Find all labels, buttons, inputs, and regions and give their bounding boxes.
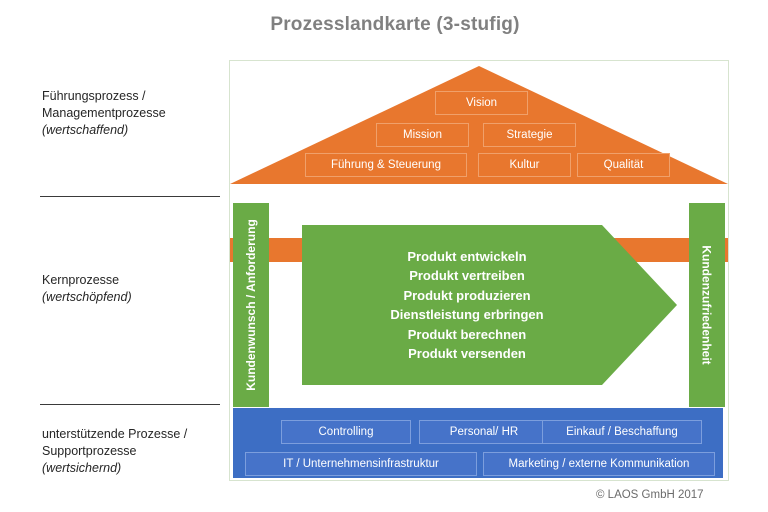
legend-core-line1: Kernprozesse xyxy=(42,272,227,289)
page-title: Prozesslandkarte (3-stufig) xyxy=(230,14,560,36)
legend-support-processes: unterstützende Prozesse / Supportprozess… xyxy=(42,426,227,477)
support-process-zone: Controlling Personal/ HR Einkauf / Besch… xyxy=(233,408,723,478)
support-box-it-infrastruktur: IT / Unternehmensinfrastruktur xyxy=(245,452,477,476)
legend-support-line2: Supportprozesse xyxy=(42,443,227,460)
support-box-einkauf-beschaffung-label: Einkauf / Beschaffung xyxy=(566,426,678,438)
management-box-mission-label: Mission xyxy=(403,129,442,141)
support-box-personal-hr-label: Personal/ HR xyxy=(450,426,518,438)
management-box-strategie-label: Strategie xyxy=(506,129,552,141)
process-map-diagram: Prozesslandkarte (3-stufig) Führungsproz… xyxy=(0,0,768,512)
legend-management-line1: Führungsprozess / xyxy=(42,88,227,105)
core-process-zone: Kundenwunsch / Anforderung Kundenzufried… xyxy=(230,203,728,407)
management-box-kultur-label: Kultur xyxy=(509,159,539,171)
legend-management-processes: Führungsprozess / Managementprozesse (we… xyxy=(42,88,227,139)
legend-management-line3: (wertschaffend) xyxy=(42,122,227,139)
management-box-mission: Mission xyxy=(376,123,469,147)
core-process-arrow-shape xyxy=(302,225,677,385)
management-box-strategie: Strategie xyxy=(483,123,576,147)
legend-management-line2: Managementprozesse xyxy=(42,105,227,122)
support-box-einkauf-beschaffung: Einkauf / Beschaffung xyxy=(542,420,702,444)
support-box-personal-hr: Personal/ HR xyxy=(419,420,549,444)
management-box-qualitaet-label: Qualität xyxy=(604,159,644,171)
support-box-controlling-label: Controlling xyxy=(319,426,374,438)
customer-satisfaction-bar: Kundenzufriedenheit xyxy=(689,203,725,407)
legend-divider-lower xyxy=(40,404,220,405)
management-box-vision-label: Vision xyxy=(466,97,497,109)
support-box-it-infrastruktur-label: IT / Unternehmensinfrastruktur xyxy=(283,458,439,470)
management-box-kultur: Kultur xyxy=(478,153,571,177)
legend-core-processes: Kernprozesse (wertschöpfend) xyxy=(42,272,227,306)
legend-divider-upper xyxy=(40,196,220,197)
management-box-fuehrung-steuerung-label: Führung & Steuerung xyxy=(331,159,441,171)
diagram-panel: Vision Mission Strategie Führung & Steue… xyxy=(229,60,729,481)
support-box-marketing-kommunikation-label: Marketing / externe Kommunikation xyxy=(509,458,690,470)
copyright-notice: © LAOS GmbH 2017 xyxy=(596,489,704,501)
customer-requirement-bar: Kundenwunsch / Anforderung xyxy=(233,203,269,407)
customer-requirement-bar-label: Kundenwunsch / Anforderung xyxy=(244,219,258,391)
support-box-controlling: Controlling xyxy=(281,420,411,444)
customer-satisfaction-bar-label: Kundenzufriedenheit xyxy=(700,245,714,364)
management-box-qualitaet: Qualität xyxy=(577,153,670,177)
legend-core-line2: (wertschöpfend) xyxy=(42,289,227,306)
management-box-fuehrung-steuerung: Führung & Steuerung xyxy=(305,153,467,177)
legend-support-line3: (wertsichernd) xyxy=(42,460,227,477)
management-box-vision: Vision xyxy=(435,91,528,115)
legend-support-line1: unterstützende Prozesse / xyxy=(42,426,227,443)
support-box-marketing-kommunikation: Marketing / externe Kommunikation xyxy=(483,452,715,476)
